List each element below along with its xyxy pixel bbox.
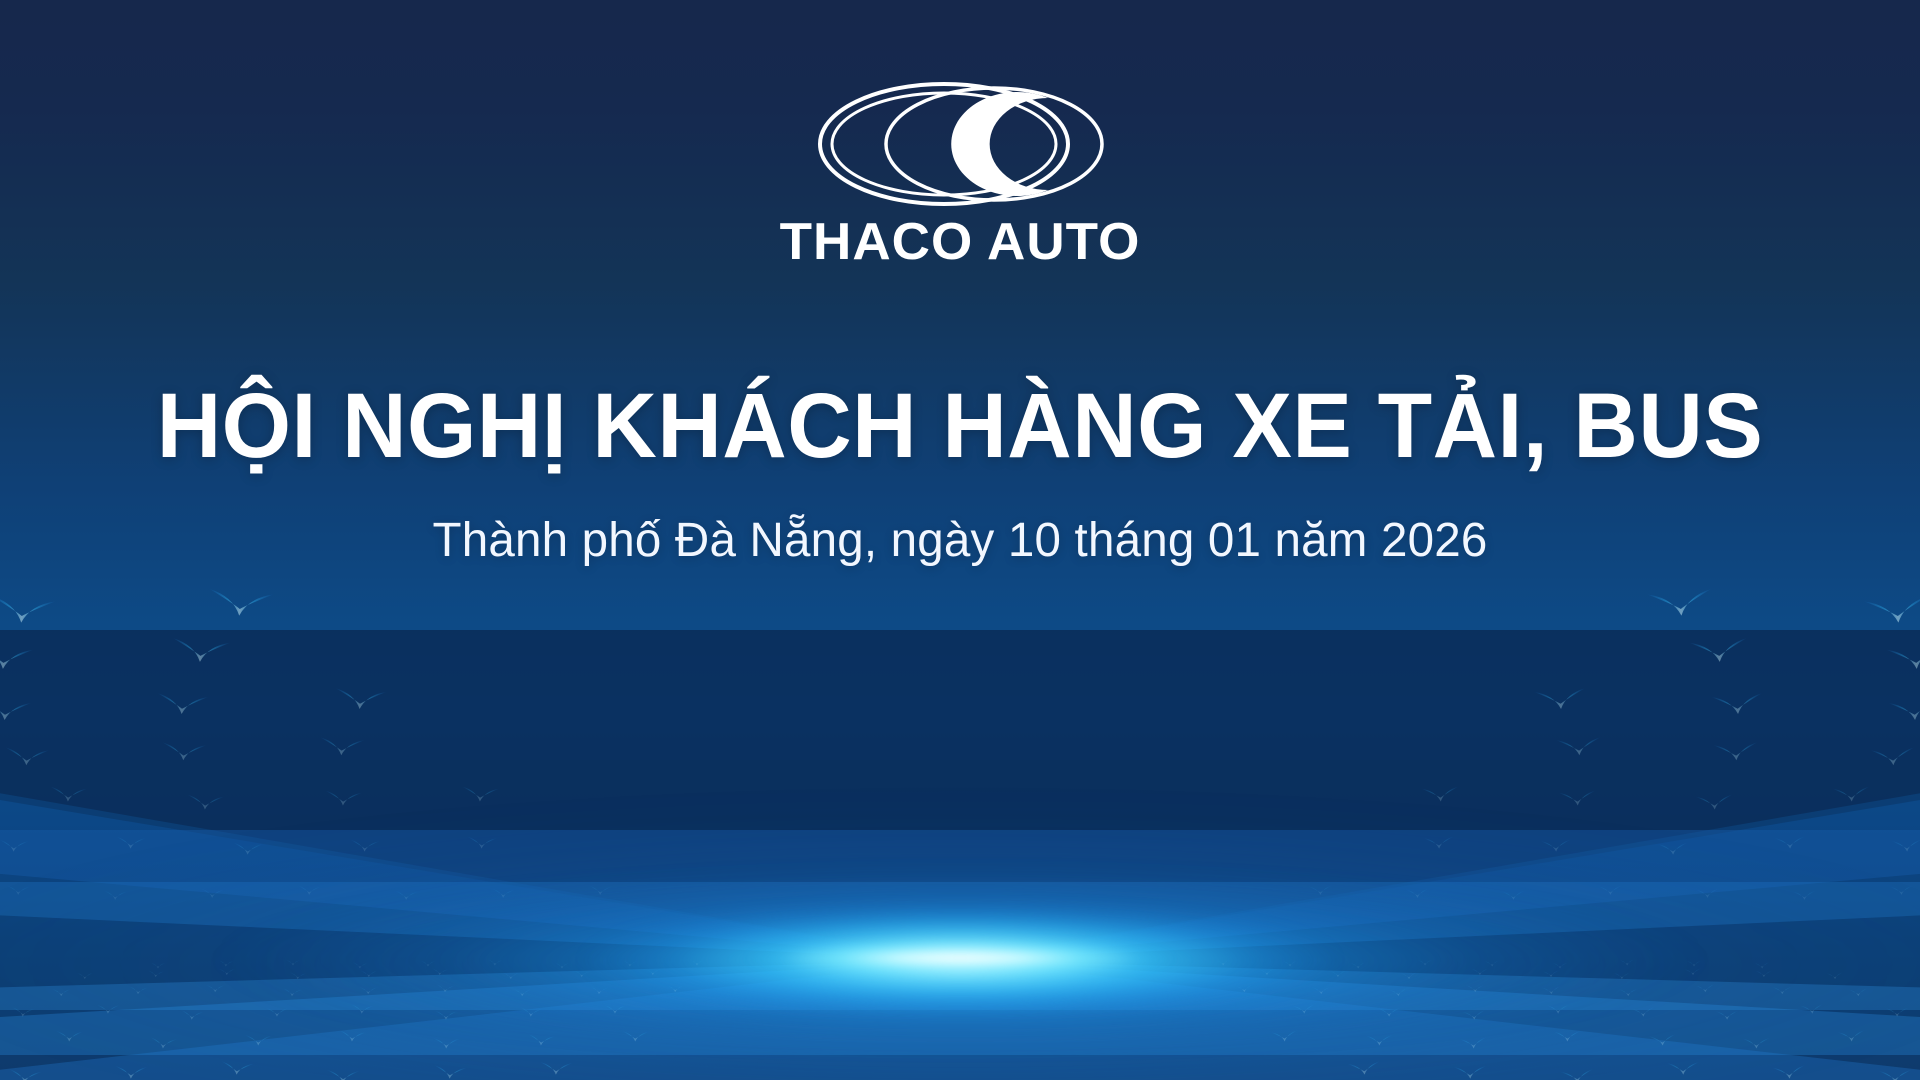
slide-subtitle: Thành phố Đà Nẵng, ngày 10 tháng 01 năm … bbox=[10, 513, 1911, 568]
chevron-particle bbox=[0, 593, 57, 627]
presentation-slide: THACO AUTO HỘI NGHỊ KHÁCH HÀNG XE TẢI, B… bbox=[0, 0, 1920, 1080]
horizon-glow-core bbox=[745, 941, 1175, 975]
slide-title: HỘI NGHỊ KHÁCH HÀNG XE TẢI, BUS bbox=[29, 378, 1891, 475]
thaco-emblem-icon bbox=[816, 78, 1104, 210]
brand-logo: THACO AUTO bbox=[750, 78, 1170, 268]
chevron-particle bbox=[206, 586, 275, 620]
chevron-particle bbox=[1646, 586, 1715, 620]
brand-wordmark: THACO AUTO bbox=[746, 216, 1174, 268]
chevron-particle bbox=[1863, 593, 1920, 627]
